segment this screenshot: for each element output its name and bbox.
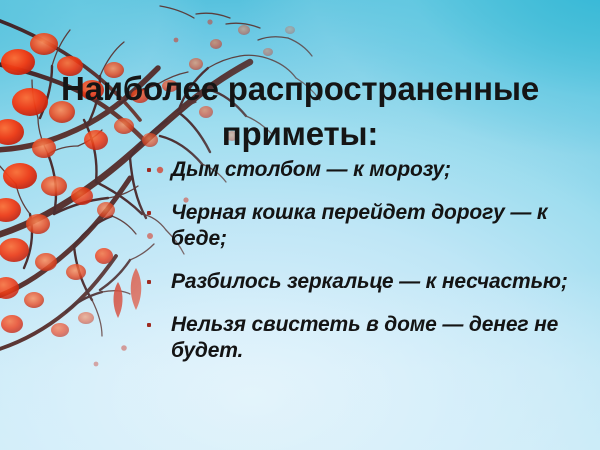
list-item-label: Дым столбом — к морозу; [171,157,570,183]
square-bullet-icon [147,323,151,327]
list-item-label: Черная кошка перейдет дорогу — к беде; [171,200,570,252]
list-item-label: Разбилось зеркальце — к несчастью; [171,269,570,295]
list-item: Дым столбом — к морозу; [140,157,570,183]
list-item: Разбилось зеркальце — к несчастью; [140,269,570,295]
square-bullet-icon [147,211,151,215]
presentation-slide: Наиболее распространенные приметы: Дым с… [0,0,600,450]
list-item: Черная кошка перейдет дорогу — к беде; [140,200,570,252]
slide-title: Наиболее распространенные приметы: [40,66,560,156]
square-bullet-icon [147,280,151,284]
list-item-label: Нельзя свистеть в доме — денег не будет. [171,312,570,364]
square-bullet-icon [147,168,151,172]
list-item: Нельзя свистеть в доме — денег не будет. [140,312,570,364]
omens-bullet-list: Дым столбом — к морозу; Черная кошка пер… [140,157,570,364]
